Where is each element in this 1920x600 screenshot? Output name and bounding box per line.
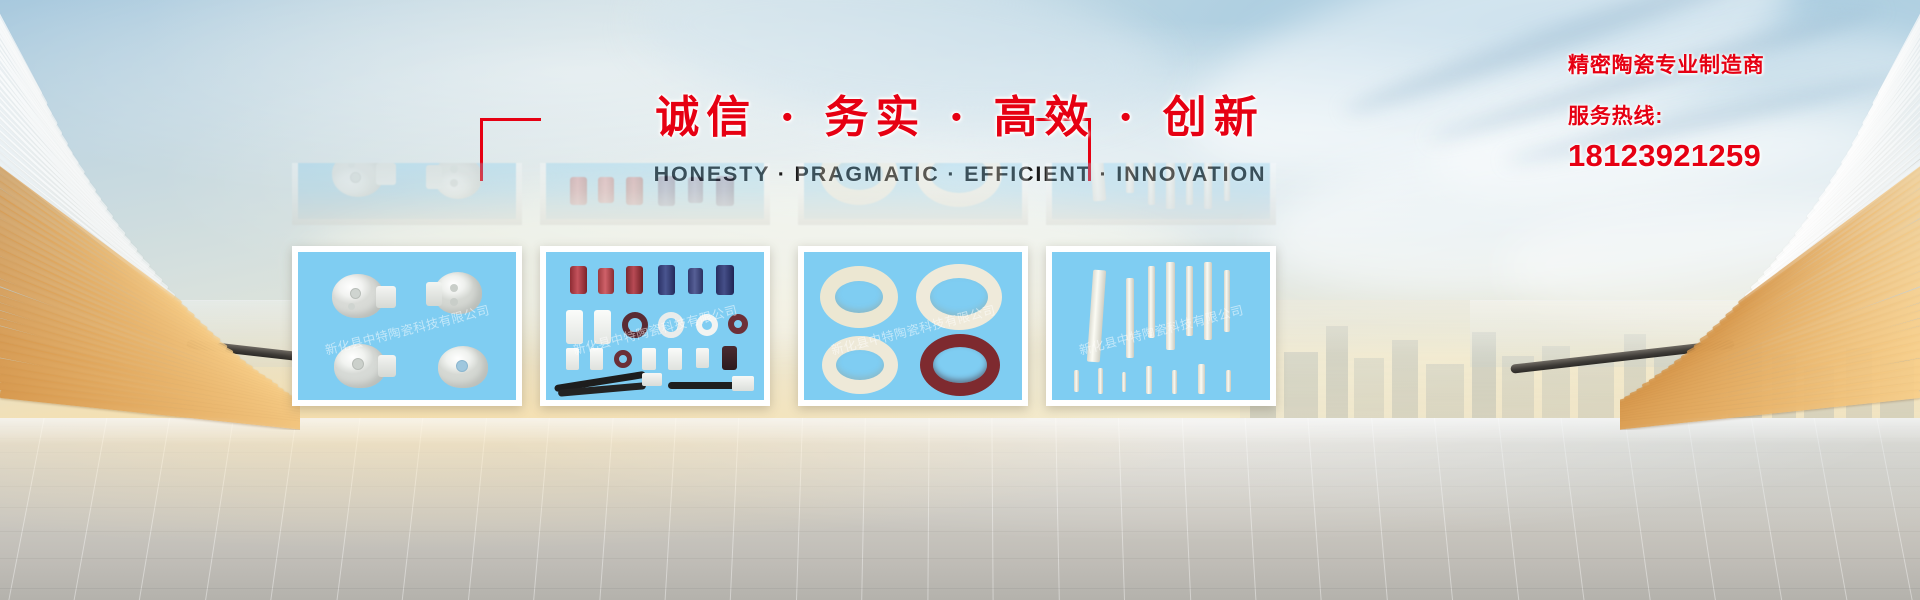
panel-image-3: 新化县中特陶瓷科技有限公司 bbox=[804, 252, 1022, 400]
contact-block: 精密陶瓷专业制造商 服务热线: 18123921259 bbox=[1568, 54, 1908, 174]
panel-reflection bbox=[540, 163, 770, 225]
product-panel-ceramic-sockets[interactable]: 新化县中特陶瓷科技有限公司 bbox=[292, 246, 522, 406]
product-panel-connectors[interactable]: 新化县中特陶瓷科技有限公司 bbox=[540, 246, 770, 406]
panel-reflection bbox=[1046, 163, 1276, 225]
reflection-fade bbox=[292, 163, 522, 225]
product-panel-row: 新化县中特陶瓷科技有限公司 bbox=[0, 246, 1920, 411]
banner-stage: 诚信 · 务实 · 高效 · 创新 HONESTY · PRAGMATIC · … bbox=[0, 0, 1920, 600]
panel-image-4: 新化县中特陶瓷科技有限公司 bbox=[1052, 252, 1270, 400]
product-panel-ceramic-rods[interactable]: 新化县中特陶瓷科技有限公司 bbox=[1046, 246, 1276, 406]
hotline-label: 服务热线: bbox=[1568, 100, 1908, 130]
reflection-fade bbox=[1046, 163, 1276, 225]
plaza-floor bbox=[0, 418, 1920, 600]
company-tagline: 精密陶瓷专业制造商 bbox=[1568, 54, 1908, 78]
panel-reflection bbox=[292, 163, 522, 225]
reflection-fade bbox=[540, 163, 770, 225]
panel-image-1: 新化县中特陶瓷科技有限公司 bbox=[298, 252, 516, 400]
hotline-number[interactable]: 18123921259 bbox=[1568, 138, 1908, 174]
floor-reflection-sheen bbox=[0, 418, 1920, 600]
panel-reflection bbox=[798, 163, 1028, 225]
slogan-chinese: 诚信 · 务实 · 高效 · 创新 bbox=[655, 96, 1265, 140]
product-panel-ceramic-rings[interactable]: 新化县中特陶瓷科技有限公司 bbox=[798, 246, 1028, 406]
reflection-fade bbox=[798, 163, 1028, 225]
panel-image-2: 新化县中特陶瓷科技有限公司 bbox=[546, 252, 764, 400]
